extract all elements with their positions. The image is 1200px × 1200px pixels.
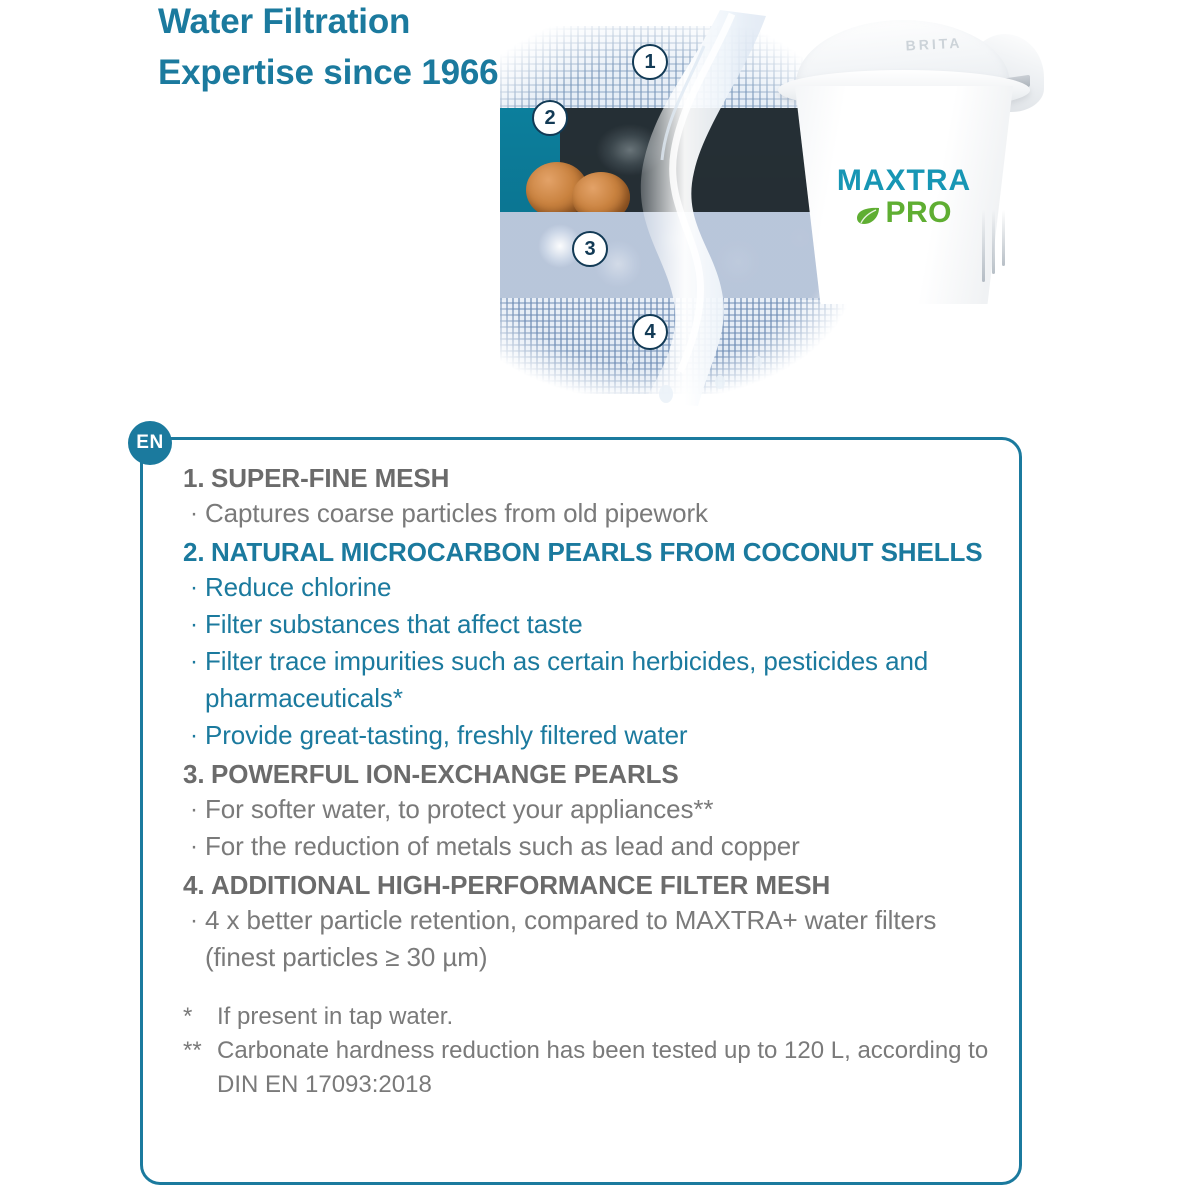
benefit-bullets-3: · For softer water, to protect your appl… <box>183 791 1005 865</box>
benefit-heading-4: 4. ADDITIONAL HIGH-PERFORMANCE FILTER ME… <box>183 869 1005 902</box>
bullet-dot-icon: · <box>183 495 205 532</box>
benefit-number-2: 2. <box>183 536 211 569</box>
hero-product-image: BRITA MAXTRA PRO 1 2 3 4 <box>490 0 1200 410</box>
benefit-bullets-1: · Captures coarse particles from old pip… <box>183 495 1005 532</box>
benefit-item-1: 1. SUPER-FINE MESH · Captures coarse par… <box>183 462 1005 532</box>
filter-cartridge: BRITA MAXTRA PRO <box>760 14 1080 319</box>
benefit-heading-3: 3. POWERFUL ION-EXCHANGE PEARLS <box>183 758 1005 791</box>
bullet-dot-icon: · <box>183 643 205 680</box>
bullet-dot-icon: · <box>183 902 205 939</box>
benefit-title-4: ADDITIONAL HIGH-PERFORMANCE FILTER MESH <box>211 869 1005 902</box>
benefit-item-2: 2. NATURAL MICROCARBON PEARLS FROM COCON… <box>183 536 1005 754</box>
bullet-item: · Reduce chlorine <box>183 569 1005 606</box>
benefit-title-1: SUPER-FINE MESH <box>211 462 1005 495</box>
footnote-double-asterisk: ** Carbonate hardness reduction has been… <box>183 1034 1005 1102</box>
coconut-shells-icon <box>526 160 646 218</box>
benefit-number-3: 3. <box>183 758 211 791</box>
bullet-dot-icon: · <box>183 606 205 643</box>
benefit-item-3: 3. POWERFUL ION-EXCHANGE PEARLS · For so… <box>183 758 1005 865</box>
maxtra-wordmark: MAXTRA <box>816 166 992 196</box>
callout-marker-4: 4 <box>632 314 668 350</box>
bullet-item: · Captures coarse particles from old pip… <box>183 495 1005 532</box>
benefit-bullets-4: · 4 x better particle retention, compare… <box>183 902 1005 976</box>
benefit-heading-1: 1. SUPER-FINE MESH <box>183 462 1005 495</box>
benefit-heading-2: 2. NATURAL MICROCARBON PEARLS FROM COCON… <box>183 536 1005 569</box>
bullet-item: · Filter trace impurities such as certai… <box>183 643 1005 717</box>
benefit-number-1: 1. <box>183 462 211 495</box>
bullet-item: · Provide great-tasting, freshly filtere… <box>183 717 1005 754</box>
bullet-item: · For softer water, to protect your appl… <box>183 791 1005 828</box>
leaf-icon <box>856 207 880 225</box>
language-badge-en: EN <box>128 421 172 465</box>
bullet-item: · 4 x better particle retention, compare… <box>183 902 1005 976</box>
footnotes: * If present in tap water. ** Carbonate … <box>183 1000 1005 1102</box>
benefit-title-2: NATURAL MICROCARBON PEARLS FROM COCONUT … <box>211 536 1005 569</box>
callout-marker-3: 3 <box>572 231 608 267</box>
benefits-content: 1. SUPER-FINE MESH · Captures coarse par… <box>183 462 1005 1102</box>
callout-marker-1: 1 <box>632 44 668 80</box>
bullet-item: · Filter substances that affect taste <box>183 606 1005 643</box>
callout-marker-2: 2 <box>532 100 568 136</box>
bullet-dot-icon: · <box>183 569 205 606</box>
bullet-dot-icon: · <box>183 828 205 865</box>
benefit-number-4: 4. <box>183 869 211 902</box>
bullet-item: · For the reduction of metals such as le… <box>183 828 1005 865</box>
bullet-dot-icon: · <box>183 791 205 828</box>
benefit-bullets-2: · Reduce chlorine · Filter substances th… <box>183 569 1005 754</box>
benefit-item-4: 4. ADDITIONAL HIGH-PERFORMANCE FILTER ME… <box>183 869 1005 976</box>
bullet-dot-icon: · <box>183 717 205 754</box>
footnote-single-asterisk: * If present in tap water. <box>183 1000 1005 1034</box>
benefits-panel: 1. SUPER-FINE MESH · Captures coarse par… <box>140 437 1022 1185</box>
benefit-title-3: POWERFUL ION-EXCHANGE PEARLS <box>211 758 1005 791</box>
pro-wordmark: PRO <box>885 196 952 229</box>
brita-emboss-text: BRITA <box>874 33 995 55</box>
maxtra-pro-logo: MAXTRA PRO <box>816 166 992 228</box>
